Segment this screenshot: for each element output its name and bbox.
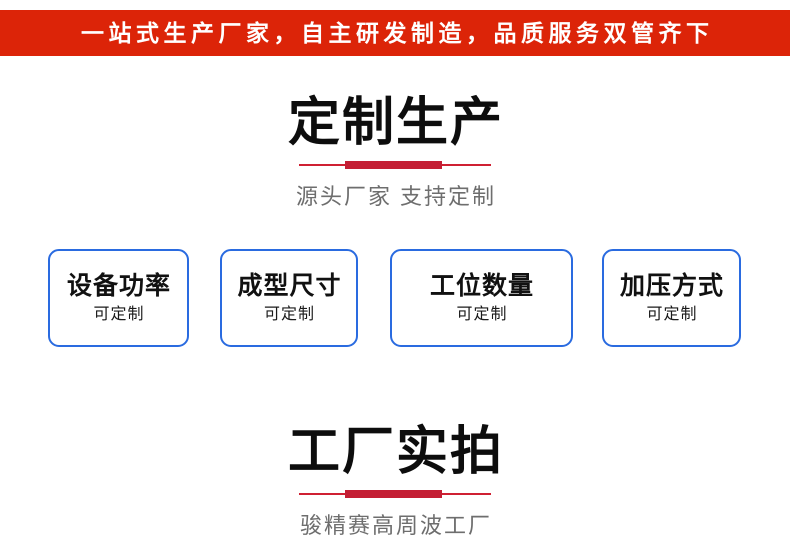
feature-box-title: 设备功率 bbox=[66, 272, 171, 301]
feature-box-title: 成型尺寸 bbox=[236, 272, 341, 301]
custom-production-section: 定制生产 源头厂家 支持定制 bbox=[0, 96, 790, 210]
factory-photos-section: 工厂实拍 骏精赛高周波工厂 bbox=[0, 425, 790, 539]
underline-thick-bar bbox=[345, 161, 442, 169]
feature-box-equipment-power[interactable]: 设备功率 可定制 bbox=[48, 249, 189, 347]
feature-box-subtitle: 可定制 bbox=[455, 305, 507, 324]
feature-box-title: 加压方式 bbox=[619, 272, 724, 301]
title-underline-decoration bbox=[299, 489, 491, 499]
feature-box-title: 工位数量 bbox=[429, 272, 534, 301]
feature-box-subtitle: 可定制 bbox=[92, 305, 144, 324]
promo-banner: 一站式生产厂家，自主研发制造，品质服务双管齐下 bbox=[0, 10, 790, 56]
promo-banner-text: 一站式生产厂家，自主研发制造，品质服务双管齐下 bbox=[77, 22, 714, 45]
feature-box-subtitle: 可定制 bbox=[263, 305, 315, 324]
title-underline-decoration bbox=[299, 160, 491, 170]
feature-box-row: 设备功率 可定制 成型尺寸 可定制 工位数量 可定制 加压方式 可定制 bbox=[0, 249, 790, 349]
feature-box-subtitle: 可定制 bbox=[645, 305, 697, 324]
section-title-custom-production: 定制生产 bbox=[0, 96, 790, 151]
section-subtitle-factory-photos: 骏精赛高周波工厂 bbox=[0, 513, 790, 539]
feature-box-station-count[interactable]: 工位数量 可定制 bbox=[390, 249, 573, 347]
feature-box-molding-size[interactable]: 成型尺寸 可定制 bbox=[220, 249, 358, 347]
underline-thick-bar bbox=[345, 490, 442, 498]
feature-box-pressure-method[interactable]: 加压方式 可定制 bbox=[602, 249, 741, 347]
section-subtitle-custom-production: 源头厂家 支持定制 bbox=[0, 184, 790, 210]
section-title-factory-photos: 工厂实拍 bbox=[0, 425, 790, 480]
